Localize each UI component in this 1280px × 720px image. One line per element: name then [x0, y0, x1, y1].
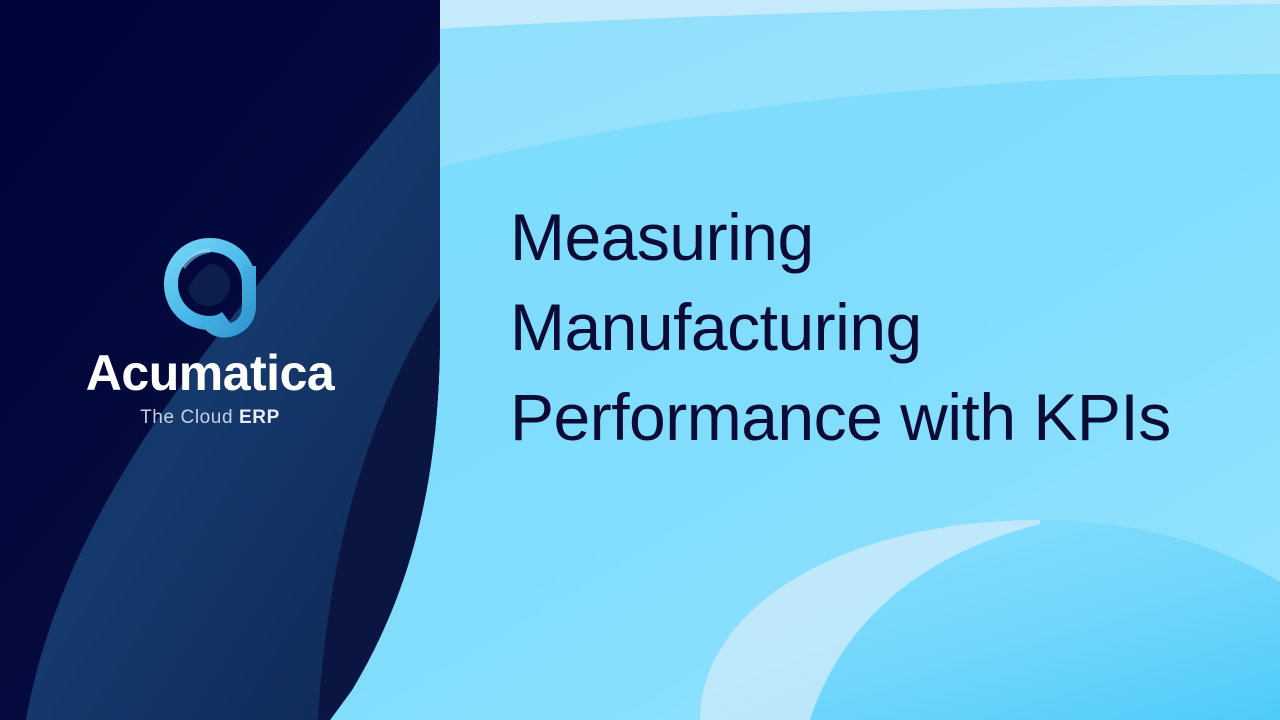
brand-block: Acumatica The Cloud ERP: [0, 236, 420, 429]
tagline-prefix: The Cloud: [140, 407, 239, 428]
brand-tagline: The Cloud ERP: [0, 407, 420, 429]
tagline-erp: ERP: [239, 407, 280, 428]
slide-title: Measuring Manufacturing Performance with…: [510, 192, 1250, 462]
title-slide: Acumatica The Cloud ERP Measuring Manufa…: [0, 0, 1280, 720]
title-line-1: Measuring: [510, 192, 1250, 282]
acumatica-droplet-logo-icon: [160, 236, 260, 340]
title-line-3: Performance with KPIs: [510, 372, 1250, 462]
acumatica-wordmark: Acumatica: [0, 348, 420, 399]
title-line-2: Manufacturing: [510, 282, 1250, 372]
